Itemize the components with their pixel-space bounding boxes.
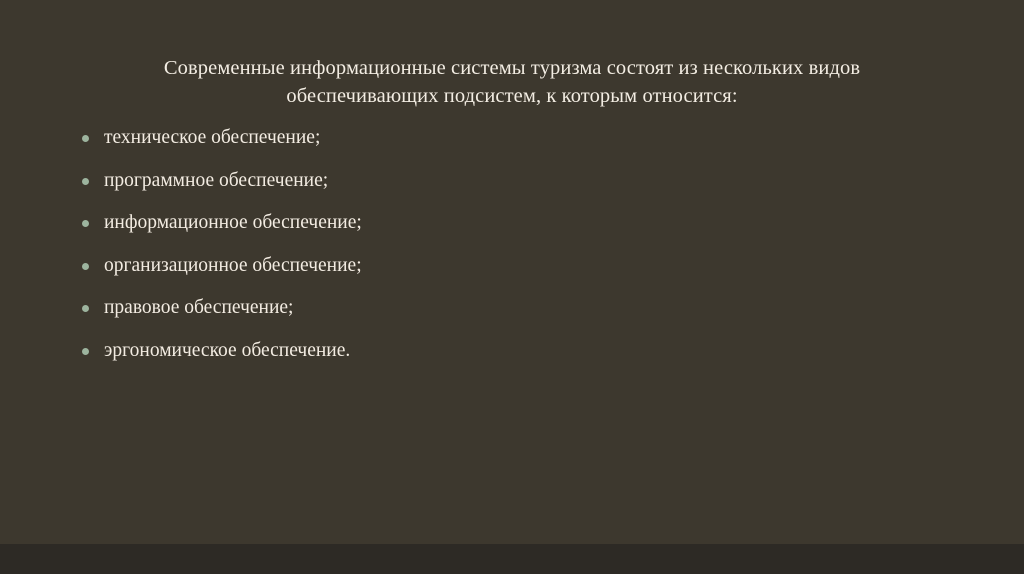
bullet-dot-icon [82, 263, 89, 270]
list-item: информационное обеспечение; [78, 209, 958, 252]
list-item-label: правовое обеспечение; [104, 294, 293, 322]
list-item-label: программное обеспечение; [104, 167, 328, 195]
bullet-dot-icon [82, 220, 89, 227]
bullet-dot-icon [82, 178, 89, 185]
list-item: правовое обеспечение; [78, 294, 958, 337]
slide-canvas: Современные информационные системы туриз… [0, 0, 1024, 574]
list-item-label: эргономическое обеспечение. [104, 337, 350, 365]
list-item: организационное обеспечение; [78, 252, 958, 295]
bullet-list: техническое обеспечение; программное обе… [78, 124, 958, 380]
bullet-dot-icon [82, 305, 89, 312]
slide-title: Современные информационные системы туриз… [96, 54, 928, 110]
list-item-label: техническое обеспечение; [104, 124, 320, 152]
bullet-dot-icon [82, 348, 89, 355]
list-item: программное обеспечение; [78, 167, 958, 210]
list-item: эргономическое обеспечение. [78, 337, 958, 380]
list-item-label: организационное обеспечение; [104, 252, 362, 280]
slide-bottom-band [0, 544, 1024, 574]
slide-title-line-1: Современные информационные системы туриз… [96, 54, 928, 82]
list-item-label: информационное обеспечение; [104, 209, 362, 237]
list-item: техническое обеспечение; [78, 124, 958, 167]
bullet-dot-icon [82, 135, 89, 142]
slide-title-line-2: обеспечивающих подсистем, к которым отно… [96, 82, 928, 110]
